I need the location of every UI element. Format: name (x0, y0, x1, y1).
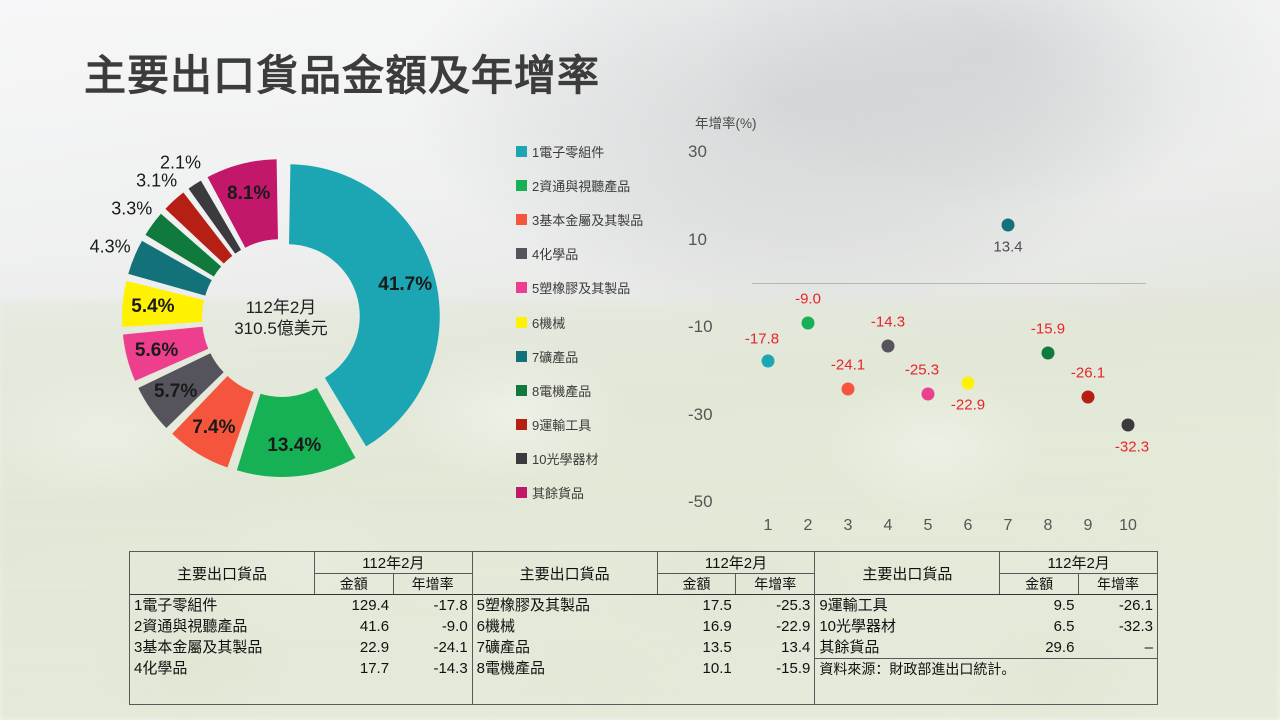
legend-item-2[interactable]: 2資通與視聽產品 (516, 168, 686, 202)
donut-slice-label: 5.7% (154, 381, 197, 403)
scatter-y-tick: 30 (688, 142, 707, 162)
table-cell-growth: -22.9 (736, 616, 815, 637)
table-cell-amount: 41.6 (315, 616, 394, 637)
table-cell-goods: 4化學品 (130, 658, 315, 679)
table-cell-goods: 10光學器材 (815, 616, 1000, 637)
export-goods-subtable: 主要出口貨品112年2月金額年增率5塑橡膠及其製品17.5-25.36機械16.… (473, 552, 815, 679)
donut-slice-label: 5.6% (135, 340, 178, 362)
legend-item-5[interactable]: 5塑橡膠及其製品 (516, 271, 686, 305)
table-cell-growth: -14.3 (393, 658, 472, 679)
donut-slice-label: 4.3% (90, 237, 131, 258)
legend-item-9[interactable]: 9運輸工具 (516, 408, 686, 442)
scatter-x-tick: 1 (764, 517, 773, 535)
scatter-point[interactable] (882, 339, 895, 352)
legend-item-label: 5塑橡膠及其製品 (532, 278, 630, 297)
table-cell-growth: -24.1 (393, 637, 472, 658)
export-goods-subtable: 主要出口貨品112年2月金額年增率9運輸工具9.5-26.110光學器材6.5-… (815, 552, 1157, 680)
legend-item-11[interactable]: 其餘貨品 (516, 476, 686, 510)
table-cell-amount: 17.7 (315, 658, 394, 679)
donut-slice[interactable] (237, 388, 356, 477)
table-header-growth: 年增率 (1078, 574, 1157, 595)
donut-slice-label: 5.4% (131, 296, 174, 318)
donut-center-label: 112年2月 310.5億美元 (234, 297, 328, 340)
scatter-point[interactable] (962, 377, 975, 390)
legend-item-label: 其餘貨品 (532, 483, 584, 502)
donut-slice-label: 3.3% (111, 198, 152, 219)
legend-item-label: 7礦產品 (532, 347, 578, 366)
donut-slice-label: 2.1% (160, 152, 201, 173)
table-cell-growth: -15.9 (736, 658, 815, 679)
legend-item-6[interactable]: 6機械 (516, 305, 686, 339)
scatter-y-tick: 10 (688, 230, 707, 250)
scatter-point-label: -14.3 (871, 313, 905, 330)
table-row: 7礦產品13.513.4 (473, 637, 815, 658)
export-goods-table: 主要出口貨品112年2月金額年增率1電子零組件129.4-17.82資通與視聽產… (129, 551, 1158, 705)
legend-item-10[interactable]: 10光學器材 (516, 442, 686, 476)
legend-item-7[interactable]: 7礦產品 (516, 339, 686, 373)
table-header-goods: 主要出口貨品 (130, 552, 315, 595)
table-cell-amount: 13.5 (657, 637, 736, 658)
legend-item-label: 6機械 (532, 313, 565, 332)
table-cell-growth: -26.1 (1078, 595, 1157, 617)
scatter-point-label: -22.9 (951, 397, 985, 414)
table-header-period: 112年2月 (315, 552, 472, 574)
table-row: 4化學品17.7-14.3 (130, 658, 472, 679)
scatter-point-label: -9.0 (795, 290, 821, 307)
table-cell-goods: 其餘貨品 (815, 637, 1000, 659)
legend-swatch-icon (516, 385, 527, 396)
legend-item-8[interactable]: 8電機產品 (516, 373, 686, 407)
table-cell-growth: -17.8 (393, 595, 472, 617)
scatter-point-label: -25.3 (905, 361, 939, 378)
donut-slice-label: 13.4% (267, 435, 321, 457)
table-source-row: 資料來源：財政部進出口統計。 (815, 659, 1157, 681)
donut-center-line2: 310.5億美元 (234, 318, 328, 339)
scatter-point-label: -24.1 (831, 356, 865, 373)
table-row: 8電機產品10.1-15.9 (473, 658, 815, 679)
scatter-point[interactable] (1042, 346, 1055, 359)
growth-rate-scatter-chart: 年增率(%) 3010-10-30-50 12345678910 -17.8-9… (686, 112, 1166, 532)
scatter-x-tick: 2 (804, 517, 813, 535)
legend-swatch-icon (516, 248, 527, 259)
scatter-point[interactable] (842, 382, 855, 395)
legend-item-1[interactable]: 1電子零組件 (516, 134, 686, 168)
table-row: 9運輸工具9.5-26.1 (815, 595, 1157, 617)
donut-center-line1: 112年2月 (234, 297, 328, 318)
table-header-amount: 金額 (315, 574, 394, 595)
scatter-point[interactable] (762, 355, 775, 368)
legend-swatch-icon (516, 453, 527, 464)
scatter-x-tick: 6 (964, 517, 973, 535)
table-cell-growth: -25.3 (736, 595, 815, 617)
table-cell-goods: 6機械 (473, 616, 658, 637)
table-source-note: 資料來源：財政部進出口統計。 (815, 659, 1157, 681)
scatter-x-tick: 8 (1044, 517, 1053, 535)
scatter-point-label: 13.4 (993, 238, 1022, 255)
table-header-amount: 金額 (657, 574, 736, 595)
scatter-point[interactable] (1082, 391, 1095, 404)
scatter-zero-gridline (752, 283, 1146, 284)
legend-item-4[interactable]: 4化學品 (516, 237, 686, 271)
export-goods-subtable: 主要出口貨品112年2月金額年增率1電子零組件129.4-17.82資通與視聽產… (130, 552, 472, 679)
table-cell-amount: 16.9 (657, 616, 736, 637)
table-cell-goods: 5塑橡膠及其製品 (473, 595, 658, 617)
donut-chart: 41.7%13.4%7.4%5.7%5.6%5.4%4.3%3.3%3.1%2.… (86, 118, 476, 518)
legend-swatch-icon (516, 214, 527, 225)
scatter-point-label: -15.9 (1031, 320, 1065, 337)
table-header-growth: 年增率 (736, 574, 815, 595)
table-row: 1電子零組件129.4-17.8 (130, 595, 472, 617)
legend-swatch-icon (516, 282, 527, 293)
scatter-x-tick: 9 (1084, 517, 1093, 535)
legend-swatch-icon (516, 419, 527, 430)
table-cell-amount: 22.9 (315, 637, 394, 658)
legend-swatch-icon (516, 146, 527, 157)
legend-swatch-icon (516, 180, 527, 191)
donut-slice-label: 8.1% (227, 183, 270, 205)
table-cell-amount: 129.4 (315, 595, 394, 617)
scatter-x-tick: 10 (1119, 517, 1137, 535)
table-cell-growth: – (1078, 637, 1157, 659)
table-header-period: 112年2月 (657, 552, 814, 574)
table-row: 其餘貨品29.6– (815, 637, 1157, 659)
table-cell-amount: 9.5 (1000, 595, 1079, 617)
legend-swatch-icon (516, 487, 527, 498)
scatter-y-tick: -50 (688, 492, 713, 512)
scatter-x-tick: 7 (1004, 517, 1013, 535)
donut-slice-label: 41.7% (378, 274, 432, 296)
table-row: 5塑橡膠及其製品17.5-25.3 (473, 595, 815, 617)
legend-item-label: 4化學品 (532, 244, 578, 263)
table-cell-goods: 1電子零組件 (130, 595, 315, 617)
scatter-point[interactable] (802, 316, 815, 329)
table-header-period: 112年2月 (1000, 552, 1157, 574)
table-cell-growth: 13.4 (736, 637, 815, 658)
scatter-point[interactable] (1002, 218, 1015, 231)
scatter-x-tick: 3 (844, 517, 853, 535)
legend-swatch-icon (516, 351, 527, 362)
table-row: 3基本金屬及其製品22.9-24.1 (130, 637, 472, 658)
table-cell-goods: 2資通與視聽產品 (130, 616, 315, 637)
table-block-1: 主要出口貨品112年2月金額年增率1電子零組件129.4-17.82資通與視聽產… (130, 552, 472, 704)
scatter-point[interactable] (1122, 418, 1135, 431)
table-header-goods: 主要出口貨品 (815, 552, 1000, 595)
table-cell-goods: 3基本金屬及其製品 (130, 637, 315, 658)
legend-item-3[interactable]: 3基本金屬及其製品 (516, 202, 686, 236)
donut-slice-label: 7.4% (192, 417, 235, 439)
chart-legend: 1電子零組件2資通與視聽產品3基本金屬及其製品4化學品5塑橡膠及其製品6機械7礦… (516, 134, 686, 510)
legend-swatch-icon (516, 317, 527, 328)
table-cell-goods: 9運輸工具 (815, 595, 1000, 617)
table-cell-growth: -32.3 (1078, 616, 1157, 637)
table-row: 2資通與視聽產品41.6-9.0 (130, 616, 472, 637)
table-cell-amount: 29.6 (1000, 637, 1079, 659)
legend-item-label: 2資通與視聽產品 (532, 176, 630, 195)
legend-item-label: 9運輸工具 (532, 415, 591, 434)
table-header-growth: 年增率 (393, 574, 472, 595)
table-cell-amount: 6.5 (1000, 616, 1079, 637)
scatter-point-label: -26.1 (1071, 365, 1105, 382)
table-cell-amount: 17.5 (657, 595, 736, 617)
scatter-y-tick: -30 (688, 405, 713, 425)
table-row: 10光學器材6.5-32.3 (815, 616, 1157, 637)
scatter-y-tick: -10 (688, 317, 713, 337)
table-header-amount: 金額 (1000, 574, 1079, 595)
legend-item-label: 8電機產品 (532, 381, 591, 400)
donut-slice-label: 3.1% (136, 171, 177, 192)
legend-item-label: 3基本金屬及其製品 (532, 210, 643, 229)
table-cell-goods: 7礦產品 (473, 637, 658, 658)
table-cell-amount: 10.1 (657, 658, 736, 679)
scatter-x-tick: 5 (924, 517, 933, 535)
page-title: 主要出口貨品金額及年增率 (84, 42, 600, 103)
table-row: 6機械16.9-22.9 (473, 616, 815, 637)
table-cell-growth: -9.0 (393, 616, 472, 637)
legend-item-label: 10光學器材 (532, 449, 598, 468)
scatter-point-label: -17.8 (745, 331, 779, 348)
table-block-3: 主要出口貨品112年2月金額年增率9運輸工具9.5-26.110光學器材6.5-… (814, 552, 1157, 704)
table-block-2: 主要出口貨品112年2月金額年增率5塑橡膠及其製品17.5-25.36機械16.… (472, 552, 815, 704)
scatter-point[interactable] (922, 387, 935, 400)
table-cell-goods: 8電機產品 (473, 658, 658, 679)
scatter-y-axis-title: 年增率(%) (695, 112, 757, 132)
legend-item-label: 1電子零組件 (532, 142, 604, 161)
scatter-x-tick: 4 (884, 517, 893, 535)
table-header-goods: 主要出口貨品 (473, 552, 658, 595)
scatter-point-label: -32.3 (1115, 438, 1149, 455)
